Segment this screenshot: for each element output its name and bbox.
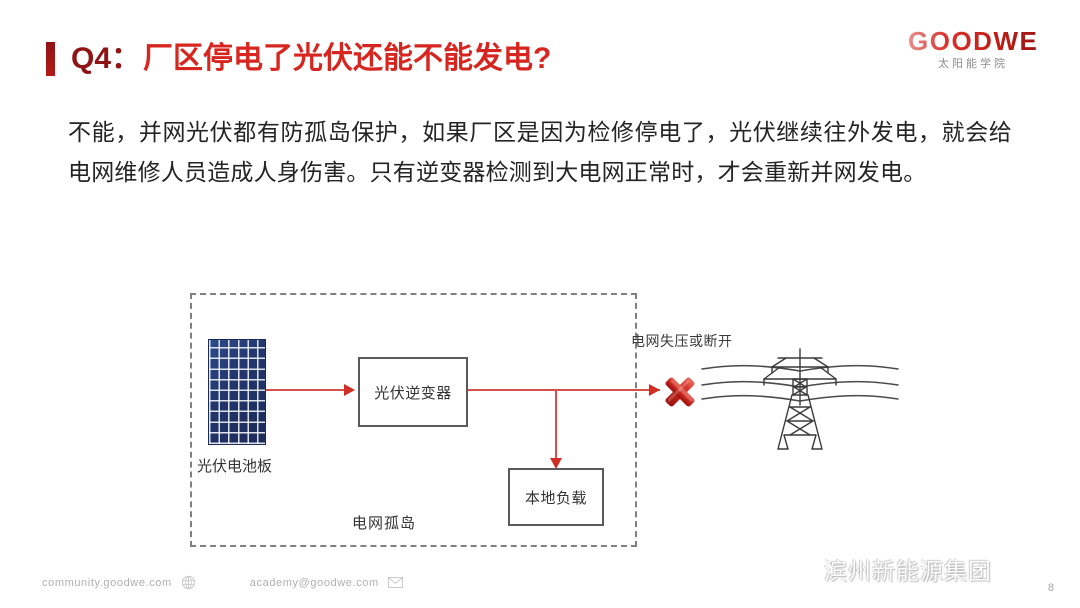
wechat-account-name: 滨州新能源集团 bbox=[824, 552, 992, 586]
footer-email-text: academy@goodwe.com bbox=[250, 577, 379, 589]
answer-paragraph: 不能，并网光伏都有防孤岛保护，如果厂区是因为检修停电了，光伏继续往外发电，就会给… bbox=[68, 112, 1012, 192]
title-question-text: 厂区停电了光伏还能不能发电? bbox=[143, 44, 551, 74]
wire-inverter-to-grid bbox=[468, 389, 660, 391]
envelope-icon bbox=[388, 575, 403, 590]
footer-community-text: community.goodwe.com bbox=[42, 577, 172, 589]
islanding-diagram: 电网孤岛 光伏电池板 光伏逆变器 本地负载 bbox=[0, 0, 1080, 608]
title-question-number: Q4： bbox=[71, 44, 141, 74]
transmission-tower-icon bbox=[700, 345, 900, 455]
wire-panel-to-inverter bbox=[266, 389, 349, 391]
wechat-watermark: 滨州新能源集团 bbox=[770, 552, 992, 586]
arrow-right-icon bbox=[649, 384, 660, 396]
wechat-icon bbox=[770, 554, 812, 584]
solar-panel-icon bbox=[208, 339, 266, 445]
pv-inverter-label: 光伏逆变器 bbox=[374, 382, 452, 403]
globe-icon bbox=[181, 575, 196, 590]
local-load-label: 本地负载 bbox=[525, 487, 587, 508]
logo-wordmark: GOODWE bbox=[908, 28, 1038, 54]
logo-subtitle: 太阳能学院 bbox=[908, 59, 1038, 70]
pv-inverter-box: 光伏逆变器 bbox=[358, 357, 468, 427]
footer-email[interactable]: academy@goodwe.com bbox=[250, 575, 403, 590]
goodwe-logo: GOODWE 太阳能学院 bbox=[908, 28, 1038, 70]
arrow-down-icon bbox=[550, 458, 562, 469]
title-accent-bar bbox=[46, 42, 55, 76]
local-load-box: 本地负载 bbox=[508, 468, 604, 526]
arrow-right-icon bbox=[344, 384, 355, 396]
footer-contacts: community.goodwe.com academy@goodwe.com bbox=[42, 575, 403, 590]
page-number: 8 bbox=[1048, 582, 1054, 594]
slide-canvas: Q4： 厂区停电了光伏还能不能发电? GOODWE 太阳能学院 不能，并网光伏都… bbox=[0, 0, 1080, 608]
grid-fault-label: 电网失压或断开 bbox=[631, 331, 733, 351]
page-title: Q4： 厂区停电了光伏还能不能发电? bbox=[46, 38, 551, 80]
grid-island-label: 电网孤岛 bbox=[352, 512, 416, 533]
grid-island-boundary bbox=[190, 293, 637, 547]
footer-community[interactable]: community.goodwe.com bbox=[42, 575, 196, 590]
wire-branch-to-load bbox=[555, 389, 557, 461]
red-x-icon bbox=[660, 372, 700, 412]
solar-panel-label: 光伏电池板 bbox=[197, 455, 272, 476]
